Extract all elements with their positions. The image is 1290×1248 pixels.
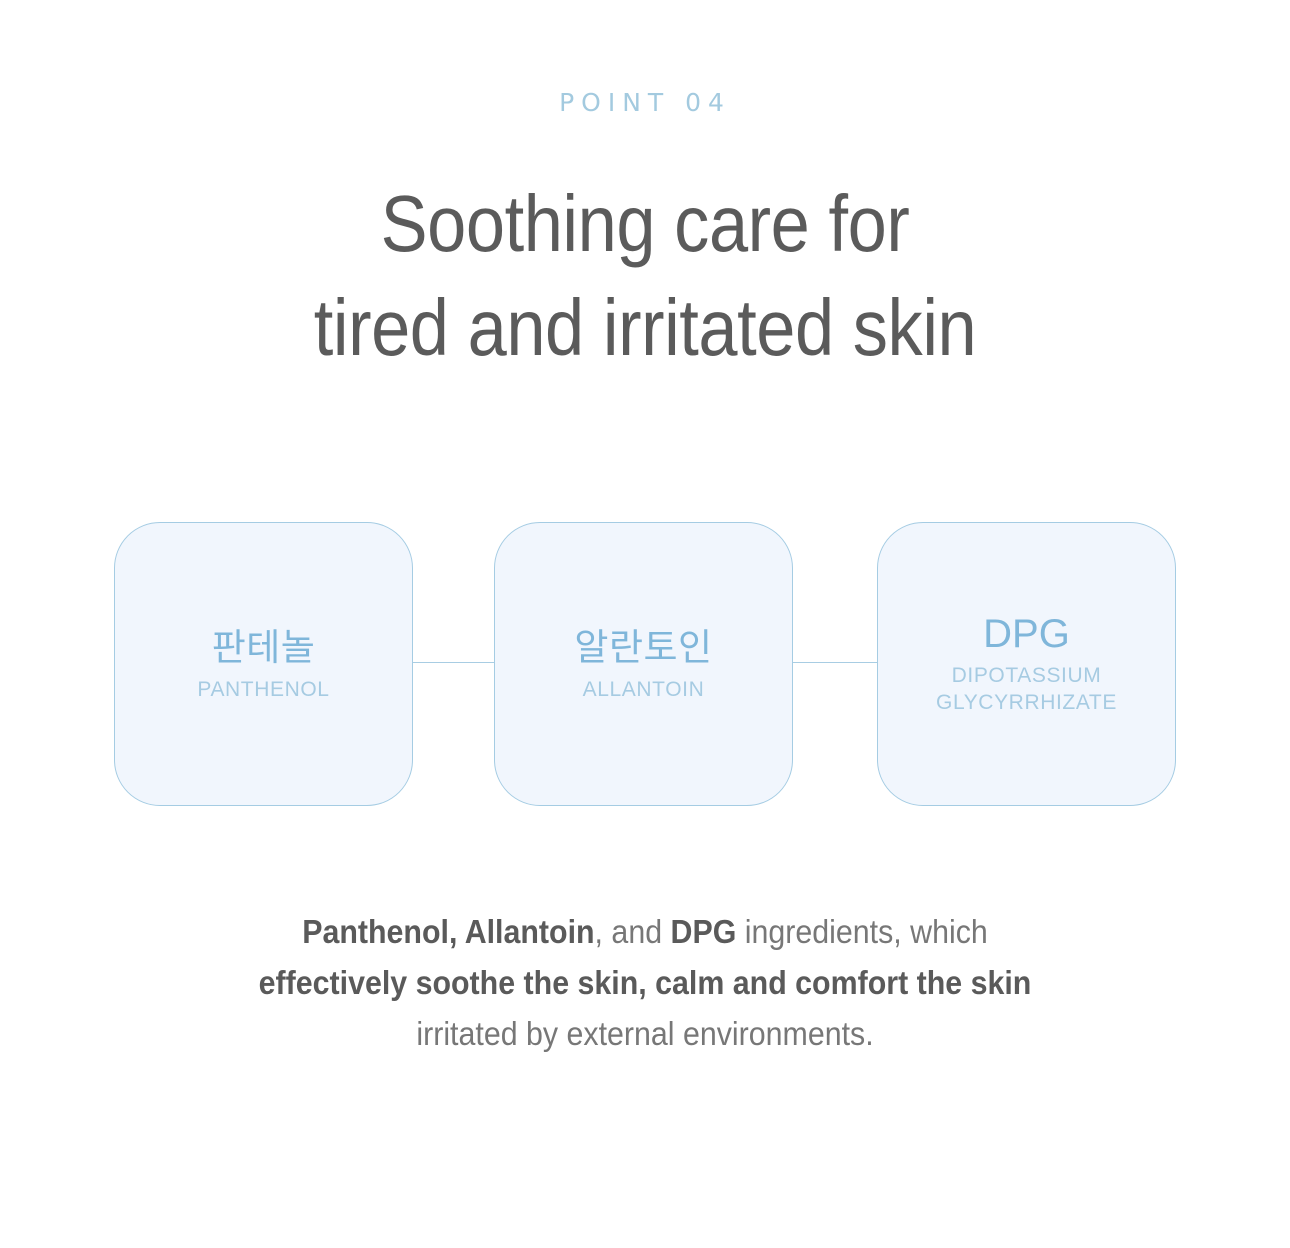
point-04-section: POINT 04 Soothing care for tired and irr… [0,0,1290,1248]
ingredient-title-korean: 판테놀 [212,626,316,670]
ingredient-subtitle-line: ALLANTOIN [583,676,705,703]
ingredient-card-dpg: DPG DIPOTASSIUM GLYCYRRHIZATE [877,522,1176,806]
ingredient-subtitle: DIPOTASSIUM GLYCYRRHIZATE [936,662,1117,716]
connector-line-2 [793,662,879,663]
ingredient-title-korean: 알란토인 [574,626,712,670]
ingredient-subtitle-line: PANTHENOL [197,676,329,703]
ingredient-title-abbreviation: DPG [983,612,1070,656]
description-text: , and [595,913,671,950]
ingredient-subtitle-line: DIPOTASSIUM [936,662,1117,689]
ingredient-card-allantoin: 알란토인 ALLANTOIN [494,522,793,806]
page-title: Soothing care for tired and irritated sk… [77,172,1212,380]
ingredient-subtitle: ALLANTOIN [583,676,705,703]
description-emphasis-ingredients: Panthenol, Allantoin [302,913,594,950]
ingredient-diagram: 판테놀 PANTHENOL 알란토인 ALLANTOIN DPG DIPOTAS… [114,522,1180,806]
connector-line-1 [410,662,496,663]
section-description: Panthenol, Allantoin, and DPG ingredient… [52,906,1239,1059]
ingredient-card-panthenol: 판테놀 PANTHENOL [114,522,413,806]
section-eyebrow: POINT 04 [0,88,1290,117]
ingredient-subtitle-line: GLYCYRRHIZATE [936,689,1117,716]
description-line-1: Panthenol, Allantoin, and DPG ingredient… [52,906,1239,957]
description-line-2: effectively soothe the skin, calm and co… [52,957,1239,1008]
headline-line-2: tired and irritated skin [77,276,1212,380]
description-line-3: irritated by external environments. [52,1008,1239,1059]
description-text: ingredients, which [736,913,987,950]
description-emphasis-dpg: DPG [671,913,737,950]
ingredient-subtitle: PANTHENOL [197,676,329,703]
headline-line-1: Soothing care for [77,172,1212,276]
